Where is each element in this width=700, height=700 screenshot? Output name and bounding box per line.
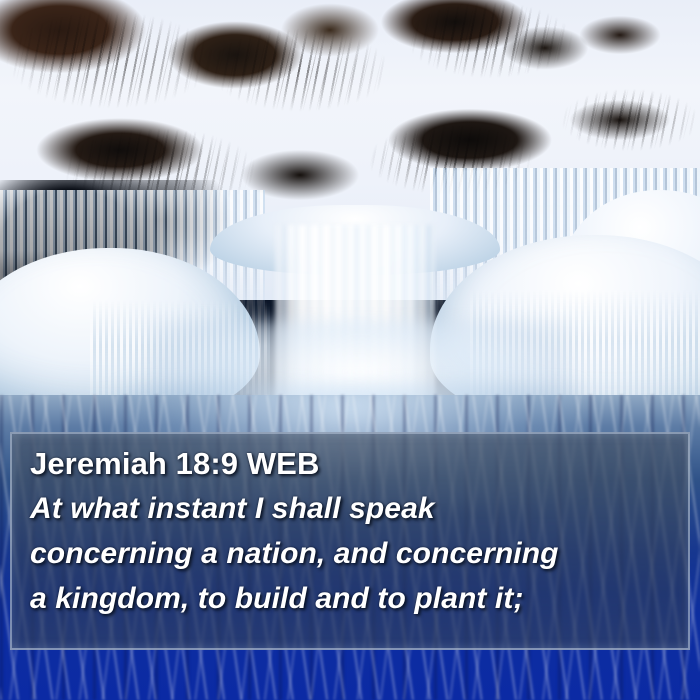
verse-reference: Jeremiah 18:9 WEB (30, 444, 670, 483)
verse-line: concerning a nation, and concerning (30, 531, 670, 576)
verse-line: a kingdom, to build and to plant it; (30, 576, 670, 621)
verse-text: At what instant I shall speak concerning… (30, 486, 670, 621)
verse-line: At what instant I shall speak (30, 486, 670, 531)
verse-image-card: Jeremiah 18:9 WEB At what instant I shal… (0, 0, 700, 700)
verse-overlay-panel: Jeremiah 18:9 WEB At what instant I shal… (10, 432, 690, 650)
